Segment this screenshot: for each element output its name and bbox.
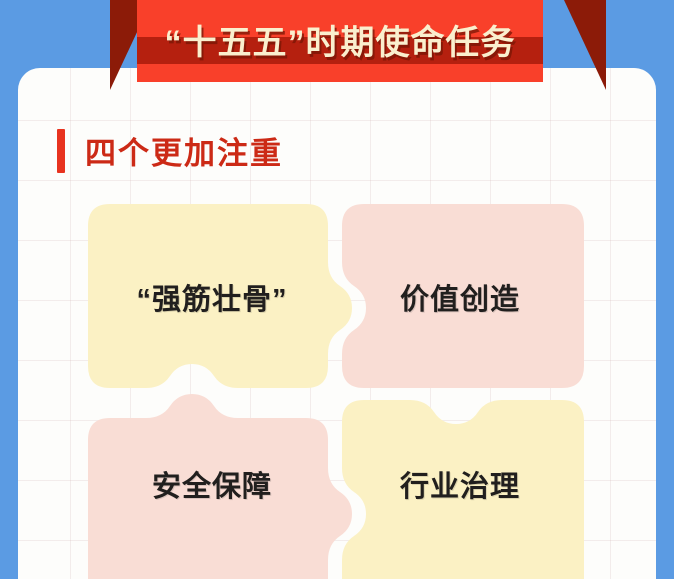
section-heading-label: 四个更加注重 xyxy=(85,128,283,173)
ribbon-tail-right-icon xyxy=(564,0,606,90)
puzzle-label-bottom-right: 行业治理 xyxy=(336,389,584,579)
poster-canvas: “十五五”时期使命任务 四个更加注重 “强筋壮骨” 价值创造 安全保障 行业治理 xyxy=(0,0,674,579)
section-heading: 四个更加注重 xyxy=(57,128,283,173)
puzzle-label-top-right: 价值创造 xyxy=(336,204,584,389)
banner-title: “十五五”时期使命任务 xyxy=(137,0,543,82)
puzzle-label-top-left: “强筋壮骨” xyxy=(88,204,336,389)
header-banner: “十五五”时期使命任务 xyxy=(137,0,543,82)
puzzle-group: “强筋壮骨” 价值创造 安全保障 行业治理 xyxy=(88,204,584,579)
puzzle-label-bottom-left: 安全保障 xyxy=(88,389,336,579)
section-accent-bar-icon xyxy=(57,129,65,173)
